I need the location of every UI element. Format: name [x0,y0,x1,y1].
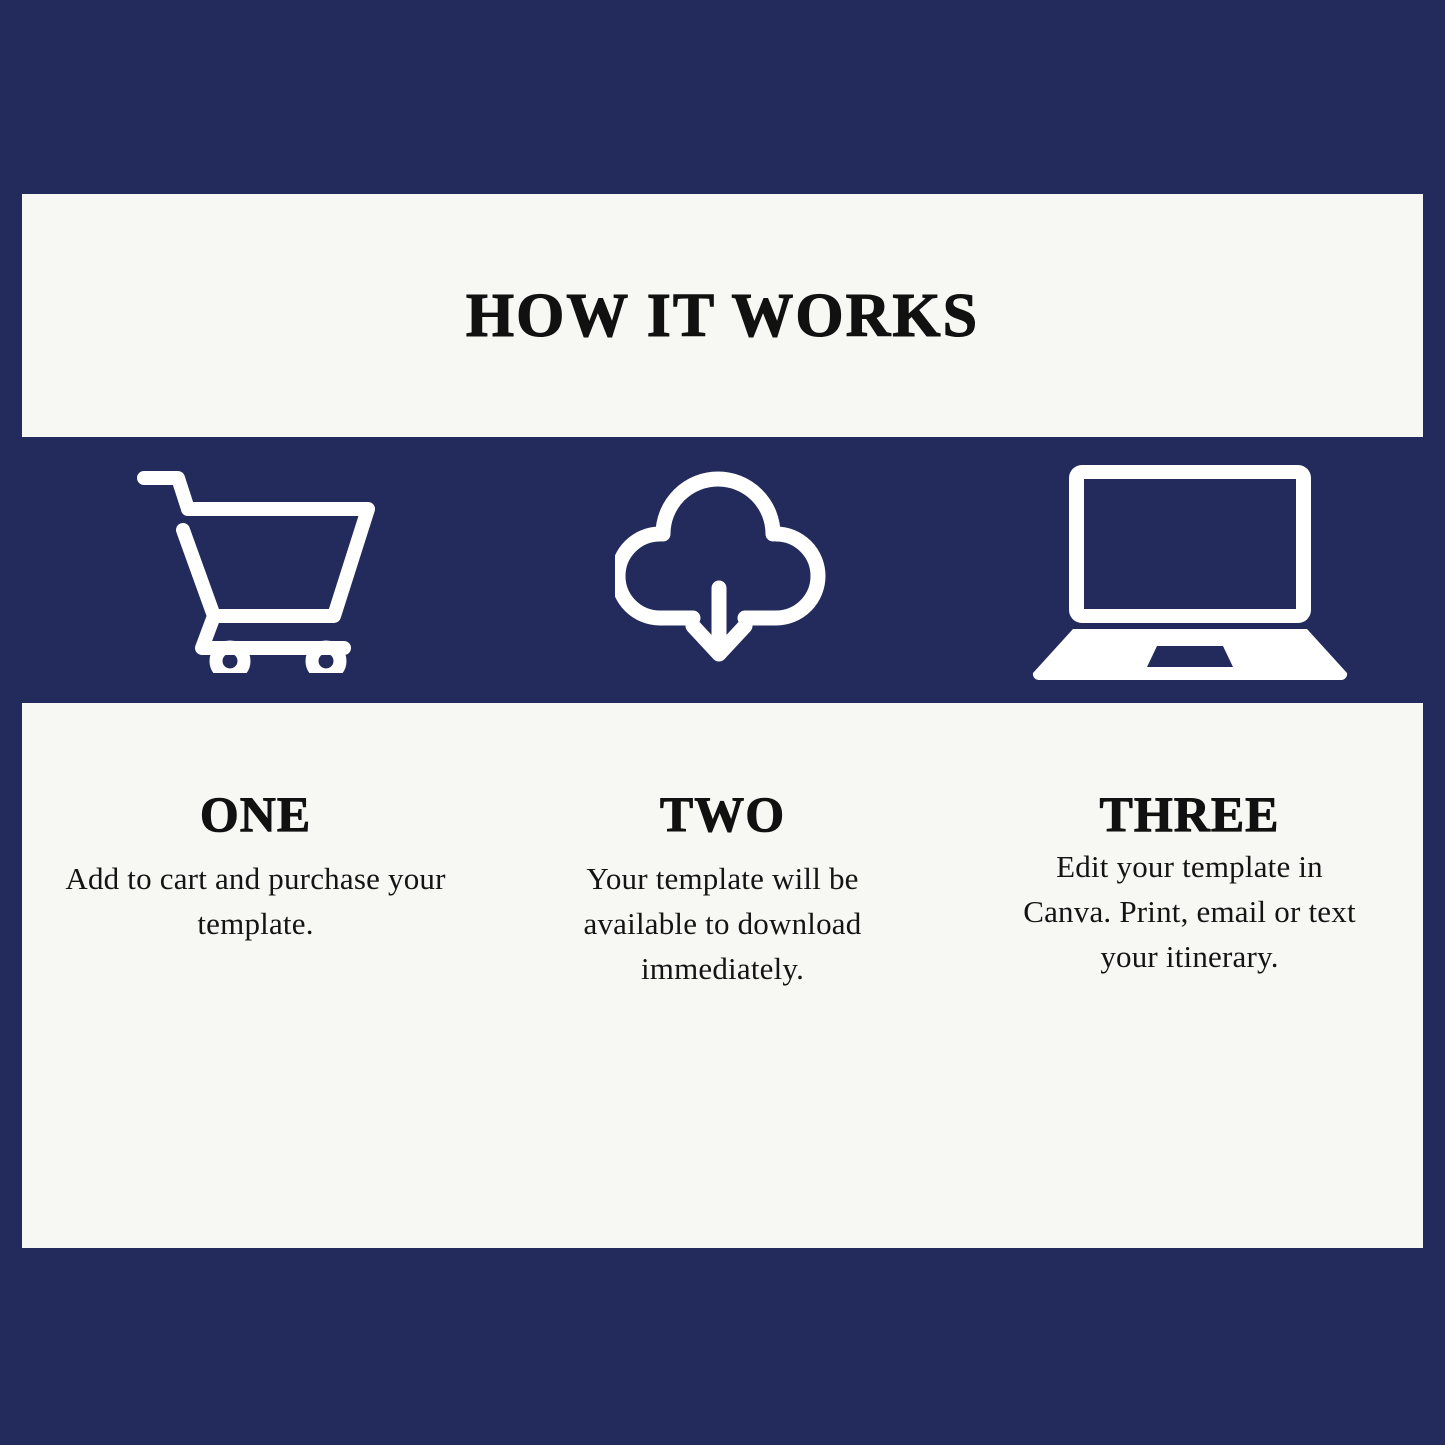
steps-panel: ONE Add to cart and purchase your templa… [22,703,1423,1248]
step-column-two: TWO Your template will be available to d… [489,703,956,992]
step-body-one: Add to cart and purchase your template. [61,857,451,947]
cloud-download-icon [615,470,830,670]
shopping-cart-icon [136,468,376,673]
icon-slot-three [956,437,1423,703]
title-panel: HOW IT WORKS [22,194,1423,437]
step-heading-one: ONE [22,789,489,839]
infographic-canvas: HOW IT WORKS [0,0,1445,1445]
step-heading-two: TWO [489,789,956,839]
step-body-three: Edit your template in Canva. Print, emai… [1015,845,1365,980]
icon-slot-one [22,437,489,703]
step-heading-three: THREE [956,789,1423,839]
icon-band [0,437,1445,703]
step-column-one: ONE Add to cart and purchase your templa… [22,703,489,947]
page-title: HOW IT WORKS [466,285,979,347]
laptop-icon [1029,459,1351,681]
step-body-two: Your template will be available to downl… [550,857,895,992]
icon-slot-two [489,437,956,703]
steps-row: ONE Add to cart and purchase your templa… [22,703,1423,1248]
step-column-three: THREE Edit your template in Canva. Print… [956,703,1423,980]
